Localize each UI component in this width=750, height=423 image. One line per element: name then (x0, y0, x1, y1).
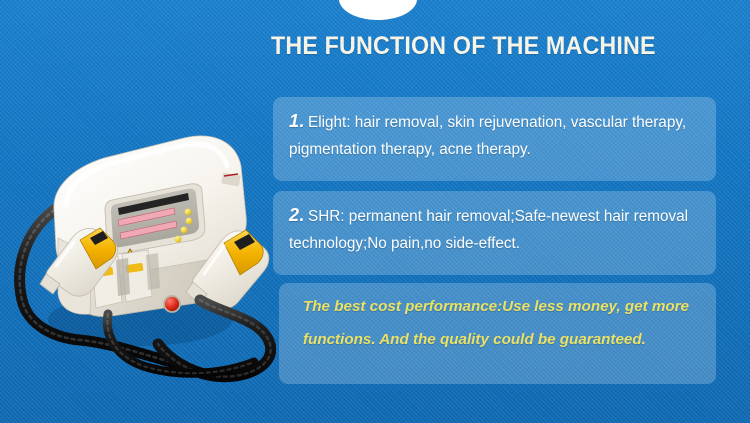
led-indicator-2 (186, 218, 193, 225)
highlight-card: The best cost performance:Use less money… (279, 283, 716, 384)
machine-illustration (8, 88, 276, 388)
feature-card-1: 1.Elight: hair removal, skin rejuvenatio… (273, 97, 716, 181)
feature-card-1-content: 1.Elight: hair removal, skin rejuvenatio… (273, 97, 716, 174)
feature-number-1: 1. (289, 111, 308, 131)
plug-body-1 (116, 258, 130, 296)
feature-text-2: SHR: permanent hair removal;Safe-newest … (289, 208, 688, 252)
plug-body-2 (146, 253, 160, 290)
feature-card-2: 2.SHR: permanent hair removal;Safe-newes… (273, 191, 716, 275)
led-indicator-1 (185, 209, 192, 216)
promo-banner: THE FUNCTION OF THE MACHINE (0, 0, 750, 423)
led-indicator-4 (175, 236, 182, 243)
led-indicator-3 (181, 227, 188, 234)
product-image (8, 88, 276, 388)
feature-number-2: 2. (289, 205, 308, 225)
feature-text-1: Elight: hair removal, skin rejuvenation,… (289, 114, 686, 158)
power-button[interactable] (164, 296, 180, 312)
feature-card-2-content: 2.SHR: permanent hair removal;Safe-newes… (273, 191, 716, 268)
highlight-text: The best cost performance:Use less money… (279, 283, 716, 363)
top-notch-decoration (339, 0, 417, 20)
page-title: THE FUNCTION OF THE MACHINE (26, 32, 724, 60)
